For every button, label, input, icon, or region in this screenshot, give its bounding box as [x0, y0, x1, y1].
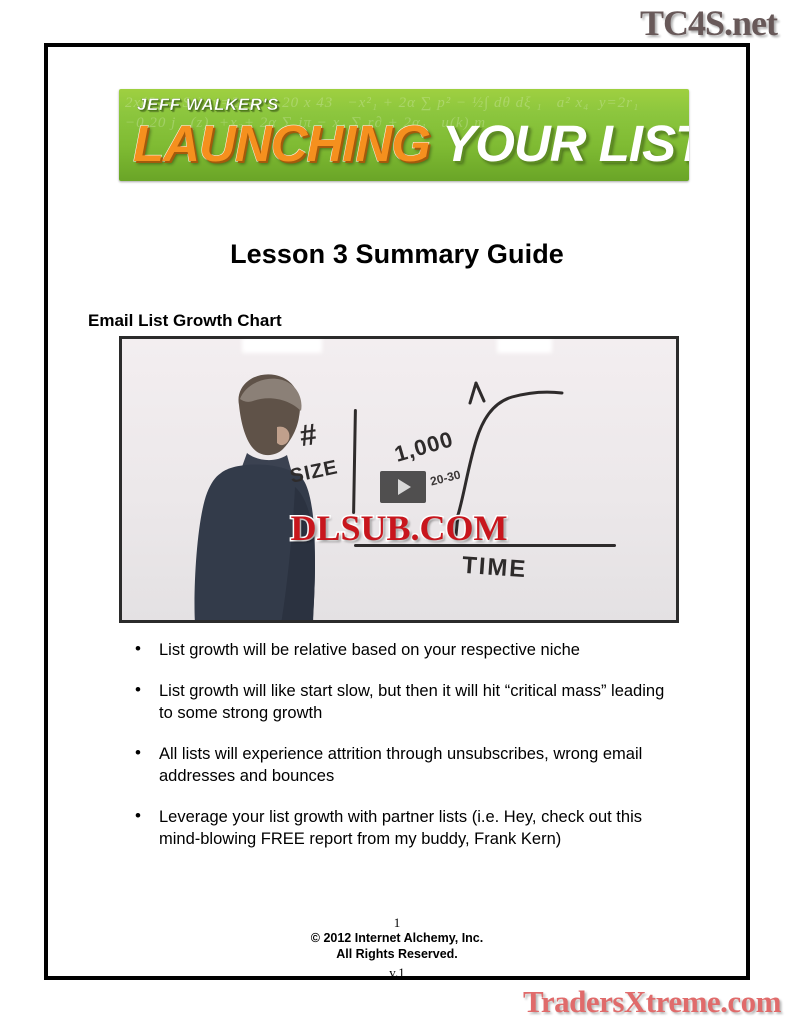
banner-title-your: YOUR [442, 115, 585, 172]
play-icon [398, 479, 411, 495]
section-heading: Email List Growth Chart [88, 311, 282, 331]
page-title: Lesson 3 Summary Guide [48, 239, 746, 270]
page-number: 1 [48, 915, 746, 930]
summary-bullet-list: List growth will be relative based on yo… [131, 639, 676, 869]
list-item: All lists will experience attrition thro… [131, 743, 676, 787]
banner-title-launching: LAUNCHING [133, 115, 430, 172]
banner-title-list: LIST [599, 115, 689, 172]
banner-title: LAUNCHING YOUR LIST [133, 115, 689, 173]
list-item: List growth will be relative based on yo… [131, 639, 676, 661]
list-item: Leverage your list growth with partner l… [131, 806, 676, 850]
banner-pretitle: JEFF WALKER'S [137, 95, 279, 115]
list-item: List growth will like start slow, but th… [131, 680, 676, 724]
video-thumbnail[interactable]: # SIZE 1,000 20-30 TIME DLSUB.COM [119, 336, 679, 623]
copyright-text: © 2012 Internet Alchemy, Inc. [48, 930, 746, 946]
version-text: v.1 [48, 964, 746, 982]
ceiling-light-glare [242, 337, 322, 353]
play-button[interactable] [380, 471, 426, 503]
presenter-figure [177, 369, 367, 623]
page-footer: 1 © 2012 Internet Alchemy, Inc. All Righ… [48, 915, 746, 982]
whiteboard-time-label: TIME [461, 552, 528, 584]
document-page: 2x(S₁ + S₂) y=2r₁ −0.20 x 43 −x²₁ + 2α ∑… [44, 43, 750, 980]
ceiling-light-glare [497, 337, 552, 353]
course-logo-banner: 2x(S₁ + S₂) y=2r₁ −0.20 x 43 −x²₁ + 2α ∑… [119, 89, 689, 181]
rights-text: All Rights Reserved. [48, 946, 746, 962]
dlsub-watermark: DLSUB.COM [290, 507, 507, 549]
watermark-bottom-right: TradersXtreme.com [523, 984, 781, 1020]
watermark-top-right: TC4S.net [640, 2, 777, 44]
